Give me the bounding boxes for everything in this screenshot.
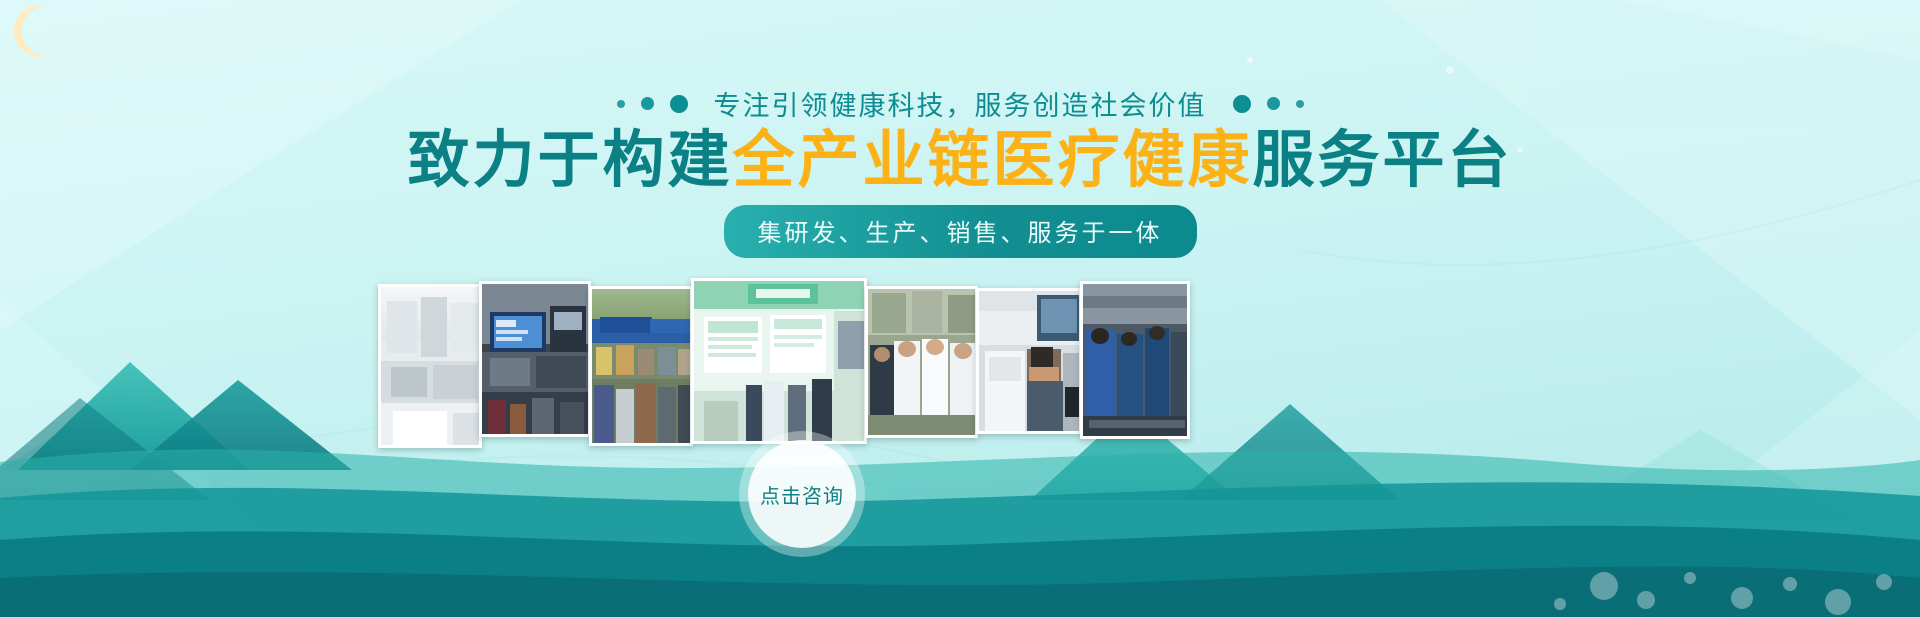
decorative-dots-left xyxy=(617,95,688,113)
dot-medium-icon xyxy=(641,97,654,110)
consult-button-label: 点击咨询 xyxy=(760,480,844,509)
photo-outdoor-health-tent xyxy=(589,286,693,446)
subtitle-pill-wrapper: 集研发、生产、销售、服务于一体 xyxy=(0,205,1920,258)
photo-factory-assembly-line xyxy=(1080,281,1190,439)
dot-large-icon xyxy=(670,95,688,113)
consult-button[interactable]: 点击咨询 xyxy=(748,440,856,548)
hero-banner: 专注引领健康科技，服务创造社会价值 致力于构建全产业链医疗健康服务平台 集研发、… xyxy=(0,0,1920,617)
headline-highlight: 全产业链医疗健康 xyxy=(732,126,1252,195)
dot-large-icon xyxy=(1233,95,1251,113)
dot-small-icon xyxy=(617,100,625,108)
dot-small-icon xyxy=(1296,100,1304,108)
photo-health-checkup-kiosk xyxy=(479,281,591,437)
decorative-dots-right xyxy=(1233,95,1304,113)
tagline-row: 专注引领健康科技，服务创造社会价值 xyxy=(0,84,1920,123)
banner-headline: 致力于构建全产业链医疗健康服务平台 xyxy=(0,124,1920,197)
crescent-moon-icon xyxy=(0,0,62,62)
photo-health-station-clinic xyxy=(691,278,867,444)
banner-tagline: 专注引领健康科技，服务创造社会价值 xyxy=(714,84,1207,123)
dot-medium-icon xyxy=(1267,97,1280,110)
photo-strip xyxy=(378,278,1190,454)
subtitle-pill: 集研发、生产、销售、服务于一体 xyxy=(724,205,1197,258)
headline-part-2: 服务平台 xyxy=(1253,126,1513,195)
headline-part-1: 致力于构建 xyxy=(407,126,732,195)
photo-medical-laboratory xyxy=(378,284,482,448)
photo-technician-operating-machine xyxy=(976,288,1082,434)
photo-doctors-examining-patient xyxy=(865,286,978,438)
